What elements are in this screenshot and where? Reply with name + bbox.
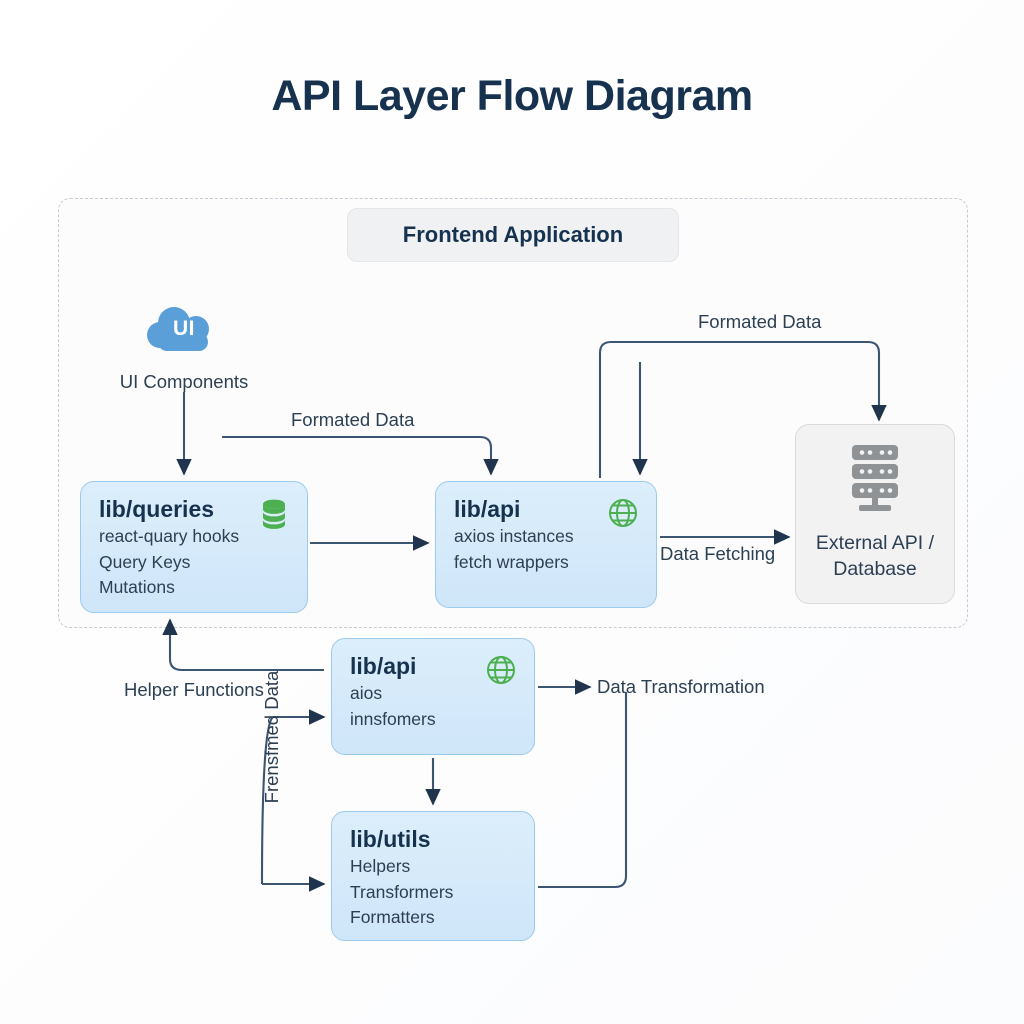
edge-label-data-fetching: Data Fetching: [660, 543, 775, 565]
node-line: Helpers: [350, 854, 516, 879]
ui-components-label: UI Components: [54, 371, 314, 393]
page-title: API Layer Flow Diagram: [0, 72, 1024, 121]
database-icon: [257, 496, 291, 530]
node-title: lib/utils: [350, 826, 516, 852]
node-external-api-database[interactable]: External API / Database: [795, 424, 955, 604]
node-lib-utils[interactable]: lib/utils Helpers Transformers Formatter…: [331, 811, 535, 941]
cloud-icon: UI: [144, 303, 224, 359]
node-line: innsfomers: [350, 707, 516, 732]
node-line: Transformers: [350, 880, 516, 905]
node-lib-api-bottom[interactable]: lib/api aios innsfomers: [331, 638, 535, 755]
edge-label-formatted-data-mid: Formated Data: [291, 409, 414, 431]
globe-icon: [606, 496, 640, 530]
edge-label-data-transformation: Data Transformation: [597, 676, 765, 698]
external-api-line1: External API /: [816, 530, 934, 556]
globe-icon: [484, 653, 518, 687]
node-line: Formatters: [350, 905, 516, 930]
wire-transformation-loop: [538, 692, 626, 887]
node-line: fetch wrappers: [454, 550, 638, 575]
frontend-application-label: Frontend Application: [347, 208, 679, 262]
node-lib-api-top[interactable]: lib/api axios instances fetch wrappers: [435, 481, 657, 608]
external-api-line2: Database: [816, 556, 934, 582]
external-api-label: External API / Database: [816, 530, 934, 583]
edge-label-formatted-data-top: Formated Data: [698, 311, 821, 333]
diagram-canvas: API Layer Flow Diagram Frontend Applicat…: [0, 0, 1024, 1024]
edge-label-helper-functions: Helper Functions: [124, 679, 264, 701]
cloud-badge-text: UI: [144, 317, 224, 341]
node-line: Mutations: [99, 575, 289, 600]
node-line: Query Keys: [99, 550, 289, 575]
edge-label-transformed-data: Frensfmed Data: [261, 652, 283, 822]
server-icon: [846, 443, 904, 522]
node-lib-queries[interactable]: lib/queries react-quary hooks Query Keys…: [80, 481, 308, 613]
